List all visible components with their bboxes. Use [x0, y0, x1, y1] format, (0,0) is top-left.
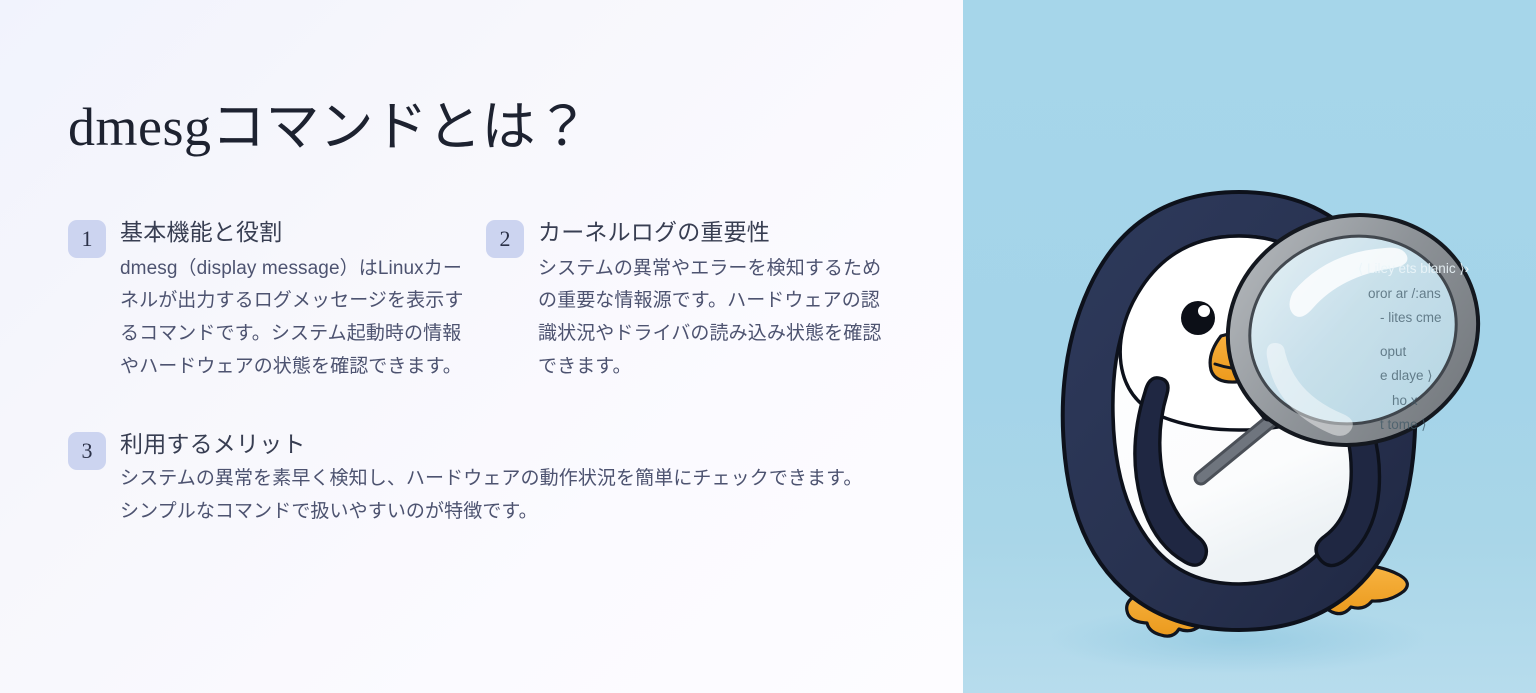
penguin-eye-left — [1181, 301, 1215, 335]
item-text-3: システムの異常を素早く検知し、ハードウェアの動作状況を簡単にチェックできます。シ… — [120, 463, 868, 528]
item-number-badge-3: 3 — [68, 432, 106, 470]
item-body-2: カーネルログの重要性 システムの異常やエラーを検知するための重要な情報源です。ハ… — [538, 218, 904, 383]
illustration-panel: ⟨ Liley ets blanic ⟩› oror ar /:ans - li… — [963, 0, 1536, 693]
item-title-1: 基本機能と役割 — [120, 218, 486, 247]
items-list: 1 基本機能と役割 dmesg（display message）はLinuxカー… — [68, 218, 913, 529]
slide-root: dmesgコマンドとは？ 1 基本機能と役割 dmesg（display mes… — [0, 0, 1536, 693]
list-item-1: 1 基本機能と役割 dmesg（display message）はLinuxカー… — [68, 218, 486, 383]
item-text-2: システムの異常やエラーを検知するための重要な情報源です。ハードウェアの認識状況や… — [538, 253, 883, 384]
page-title: dmesgコマンドとは？ — [68, 96, 590, 158]
item-text-1: dmesg（display message）はLinuxカーネルが出力するログメ… — [120, 253, 465, 384]
item-number-badge-1: 1 — [68, 220, 106, 258]
item-body-1: 基本機能と役割 dmesg（display message）はLinuxカーネル… — [120, 218, 486, 383]
list-item-2: 2 カーネルログの重要性 システムの異常やエラーを検知するための重要な情報源です… — [486, 218, 904, 383]
penguin-eye-left-highlight — [1198, 305, 1210, 317]
page-title-cjk: コマンドとは？ — [212, 97, 590, 157]
item-number-badge-2: 2 — [486, 220, 524, 258]
page-title-mono: dmesg — [68, 97, 212, 157]
item-body-3: 利用するメリット システムの異常を素早く検知し、ハードウェアの動作状況を簡単にチ… — [120, 430, 868, 528]
list-item-3: 3 利用するメリット システムの異常を素早く検知し、ハードウェアの動作状況を簡単… — [68, 430, 868, 528]
content-panel: dmesgコマンドとは？ 1 基本機能と役割 dmesg（display mes… — [0, 0, 963, 693]
items-row-top: 1 基本機能と役割 dmesg（display message）はLinuxカー… — [68, 218, 913, 383]
content-inner: dmesgコマンドとは？ 1 基本機能と役割 dmesg（display mes… — [68, 0, 913, 693]
item-title-3: 利用するメリット — [120, 430, 868, 459]
penguin-illustration — [963, 0, 1536, 693]
item-title-2: カーネルログの重要性 — [538, 218, 904, 247]
